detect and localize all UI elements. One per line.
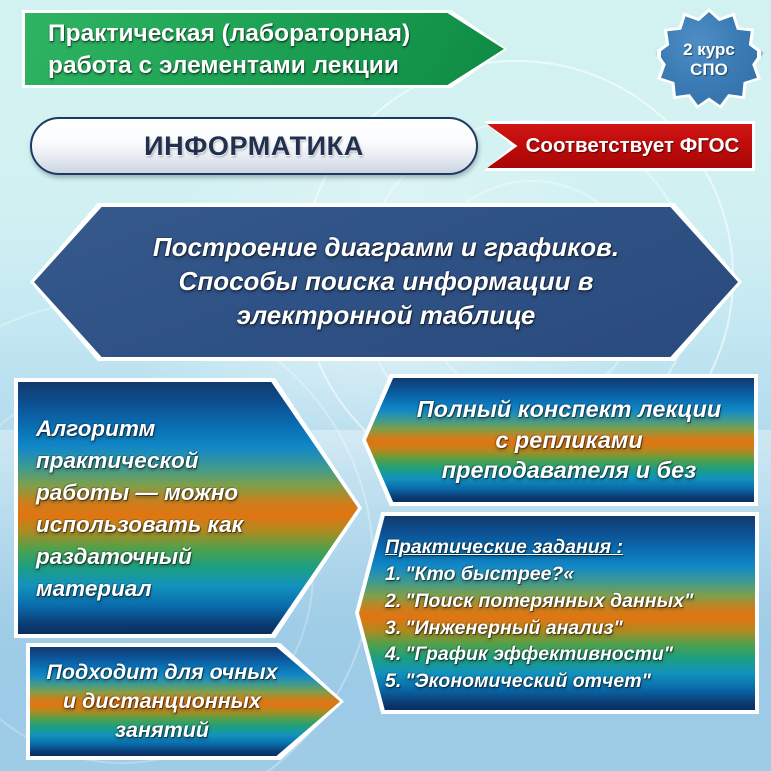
algorithm-line-6: материал [36,573,243,605]
task-number: 5. [385,668,401,695]
feature-algorithm-panel: Алгоритм практической работы — можно исп… [14,378,362,638]
feature-lecture-notes-panel: Полный конспект лекции с репликами препо… [362,374,758,506]
main-title-line-1: Построение диаграмм и графиков. [153,231,619,265]
feature-lecture-notes-text: Полный конспект лекции с репликами препо… [362,374,758,506]
course-badge-line-2: СПО [690,60,728,80]
main-title-line-3: электронной таблице [237,299,536,333]
work-type-line-1: Практическая (лабораторная) [48,18,437,50]
task-number: 3. [385,615,401,642]
task-label: "График эффективности" [405,641,673,668]
task-label: "Инженерный анализ" [405,615,623,642]
notes-line-1: Полный конспект лекции [417,394,722,425]
feature-tasks-text: Практические задания : 1. "Кто быстрее?«… [355,512,759,714]
poster-canvas: Практическая (лабораторная) работа с эле… [0,0,771,771]
work-type-banner-text: Практическая (лабораторная) работа с эле… [48,18,437,82]
feature-tasks-panel: Практические задания : 1. "Кто быстрее?«… [355,512,759,714]
task-list-item: 4. "График эффективности" [385,641,751,668]
main-title-text: Построение диаграмм и графиков. Способы … [30,203,742,361]
work-type-banner: Практическая (лабораторная) работа с эле… [22,10,507,88]
task-list-item: 3. "Инженерный анализ" [385,615,751,642]
standard-compliance-ribbon: Соответствует ФГОС [484,121,755,171]
task-label: "Кто быстрее?« [405,561,574,588]
subject-pill-label: ИНФОРМАТИКА [144,131,364,162]
feature-algorithm-text: Алгоритм практической работы — можно исп… [36,390,252,628]
feature-suitability-panel: Подходит для очных и дистанционных занят… [26,643,344,760]
task-number: 4. [385,641,401,668]
standard-compliance-label: Соответствует ФГОС [484,121,755,171]
subject-pill: ИНФОРМАТИКА [30,117,478,175]
task-number: 1. [385,561,401,588]
suitability-line-2: и дистанционных [63,687,261,716]
task-label: "Поиск потерянных данных" [405,588,693,615]
algorithm-line-1: Алгоритм [36,413,243,445]
tasks-heading: Практические задания : [385,534,751,561]
task-label: "Экономический отчет" [405,668,651,695]
suitability-line-1: Подходит для очных [46,658,277,687]
task-list-item: 5. "Экономический отчет" [385,668,751,695]
algorithm-line-2: практической [36,445,243,477]
task-list-item: 2. "Поиск потерянных данных" [385,588,751,615]
algorithm-line-5: раздаточный [36,541,243,573]
algorithm-line-3: работы — можно [36,477,243,509]
notes-line-3: преподавателя и без [442,455,696,486]
algorithm-line-4: использовать как [36,509,243,541]
task-number: 2. [385,588,401,615]
notes-line-2: с репликами [495,425,642,456]
course-badge-line-1: 2 курс [683,40,735,60]
course-badge: 2 курс СПО [657,8,761,112]
work-type-line-2: работа с элементами лекции [48,50,437,82]
main-title-hexagon: Построение диаграмм и графиков. Способы … [30,203,742,361]
suitability-line-3: занятий [115,716,209,745]
feature-suitability-text: Подходит для очных и дистанционных занят… [42,647,282,756]
course-badge-text: 2 курс СПО [657,8,761,112]
task-list-item: 1. "Кто быстрее?« [385,561,751,588]
main-title-line-2: Способы поиска информации в [179,265,594,299]
